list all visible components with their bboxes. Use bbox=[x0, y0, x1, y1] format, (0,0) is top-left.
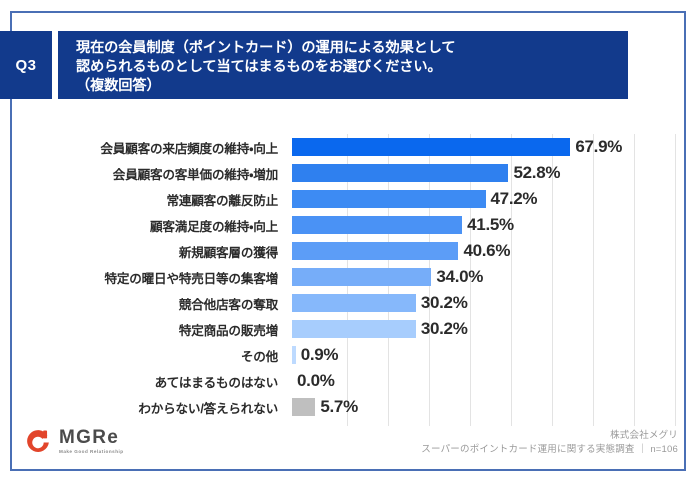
chart-bar bbox=[292, 164, 508, 182]
chart-value-label: 30.2% bbox=[421, 293, 468, 313]
question-line-2: 認められるものとして当てはまるものをお選びください。 bbox=[76, 58, 628, 77]
chart-bar-group: 30.2% bbox=[292, 290, 468, 316]
survey-attribution: スーパーのポイントカード運用に関する実態調査｜n=106 bbox=[421, 443, 678, 457]
chart-category-label: 競合他店客の奪取 bbox=[0, 294, 292, 313]
chart-row: 競合他店客の奪取30.2% bbox=[0, 290, 700, 316]
chart-category-label: 特定の曜日や特売日等の集客増 bbox=[0, 268, 292, 287]
question-text-box: 現在の会員制度（ポイントカード）の運用による効果として 認められるものとして当て… bbox=[58, 31, 628, 99]
chart-row: 会員顧客の来店頻度の維持・向上67.9% bbox=[0, 134, 700, 160]
chart-value-label: 0.0% bbox=[297, 371, 335, 391]
chart-category-label: その他 bbox=[0, 346, 292, 365]
chart-value-label: 47.2% bbox=[491, 189, 538, 209]
chart-value-label: 30.2% bbox=[421, 319, 468, 339]
chart-row: 特定の曜日や特売日等の集客増34.0% bbox=[0, 264, 700, 290]
chart-value-label: 40.6% bbox=[463, 241, 510, 261]
chart-bar-group: 5.7% bbox=[292, 394, 358, 420]
chart-bar-group: 47.2% bbox=[292, 186, 537, 212]
chart-category-label: 会員顧客の来店頻度の維持・向上 bbox=[0, 138, 292, 157]
company-name: 株式会社メグリ bbox=[421, 429, 678, 443]
mgre-logo: MGRe Make Good Relationship bbox=[26, 428, 124, 455]
chart-value-label: 34.0% bbox=[436, 267, 483, 287]
chart-bar bbox=[292, 398, 315, 416]
chart-bar-group: 34.0% bbox=[292, 264, 483, 290]
chart-row: 新規顧客層の獲得40.6% bbox=[0, 238, 700, 264]
chart-row: 特定商品の販売増30.2% bbox=[0, 316, 700, 342]
attribution-separator: ｜ bbox=[635, 444, 651, 455]
chart-value-label: 0.9% bbox=[301, 345, 339, 365]
chart-category-label: わからない/答えられない bbox=[0, 398, 292, 417]
question-number-badge: Q3 bbox=[0, 31, 52, 99]
chart-value-label: 52.8% bbox=[513, 163, 560, 183]
chart-category-label: あてはまるものはない bbox=[0, 372, 292, 391]
chart-rows: 会員顧客の来店頻度の維持・向上67.9%会員顧客の客単価の維持・増加52.8%常… bbox=[0, 134, 700, 420]
bar-chart: 会員顧客の来店頻度の維持・向上67.9%会員顧客の客単価の維持・増加52.8%常… bbox=[0, 134, 700, 426]
chart-bar bbox=[292, 138, 570, 156]
question-number-label: Q3 bbox=[15, 57, 36, 74]
chart-value-label: 67.9% bbox=[575, 137, 622, 157]
chart-bar bbox=[292, 216, 462, 234]
chart-bar bbox=[292, 320, 416, 338]
chart-row: 常連顧客の離反防止47.2% bbox=[0, 186, 700, 212]
logo-tagline: Make Good Relationship bbox=[59, 448, 124, 455]
logo-wordmark: MGRe bbox=[59, 428, 124, 448]
chart-row: その他0.9% bbox=[0, 342, 700, 368]
chart-bar bbox=[292, 190, 486, 208]
chart-row: 会員顧客の客単価の維持・増加52.8% bbox=[0, 160, 700, 186]
chart-row: わからない/答えられない5.7% bbox=[0, 394, 700, 420]
mgre-logo-text: MGRe Make Good Relationship bbox=[59, 428, 124, 455]
question-line-3: （複数回答） bbox=[76, 77, 628, 96]
chart-row: 顧客満足度の維持・向上41.5% bbox=[0, 212, 700, 238]
chart-bar-group: 52.8% bbox=[292, 160, 560, 186]
chart-category-label: 顧客満足度の維持・向上 bbox=[0, 216, 292, 235]
chart-bar bbox=[292, 268, 431, 286]
chart-bar-group: 0.9% bbox=[292, 342, 338, 368]
chart-bar-group: 40.6% bbox=[292, 238, 510, 264]
chart-category-label: 新規顧客層の獲得 bbox=[0, 242, 292, 261]
question-header: Q3 現在の会員制度（ポイントカード）の運用による効果として 認められるものとし… bbox=[0, 20, 700, 110]
chart-bar-group: 67.9% bbox=[292, 134, 622, 160]
survey-name: スーパーのポイントカード運用に関する実態調査 bbox=[421, 444, 634, 455]
chart-bar bbox=[292, 294, 416, 312]
chart-category-label: 会員顧客の客単価の維持・増加 bbox=[0, 164, 292, 183]
chart-category-label: 特定商品の販売増 bbox=[0, 320, 292, 339]
chart-bar-group: 0.0% bbox=[292, 368, 335, 394]
chart-value-label: 5.7% bbox=[320, 397, 358, 417]
chart-row: あてはまるものはない0.0% bbox=[0, 368, 700, 394]
question-line-1: 現在の会員制度（ポイントカード）の運用による効果として bbox=[76, 39, 628, 58]
chart-value-label: 41.5% bbox=[467, 215, 514, 235]
chart-bar bbox=[292, 242, 458, 260]
slide-footer: MGRe Make Good Relationship 株式会社メグリ スーパー… bbox=[0, 424, 700, 484]
chart-bar bbox=[292, 346, 296, 364]
attribution-block: 株式会社メグリ スーパーのポイントカード運用に関する実態調査｜n=106 bbox=[421, 429, 678, 457]
sample-size: n=106 bbox=[650, 444, 678, 455]
chart-category-label: 常連顧客の離反防止 bbox=[0, 190, 292, 209]
chart-bar-group: 30.2% bbox=[292, 316, 468, 342]
chart-bar-group: 41.5% bbox=[292, 212, 514, 238]
mgre-logo-mark-icon bbox=[26, 429, 52, 455]
